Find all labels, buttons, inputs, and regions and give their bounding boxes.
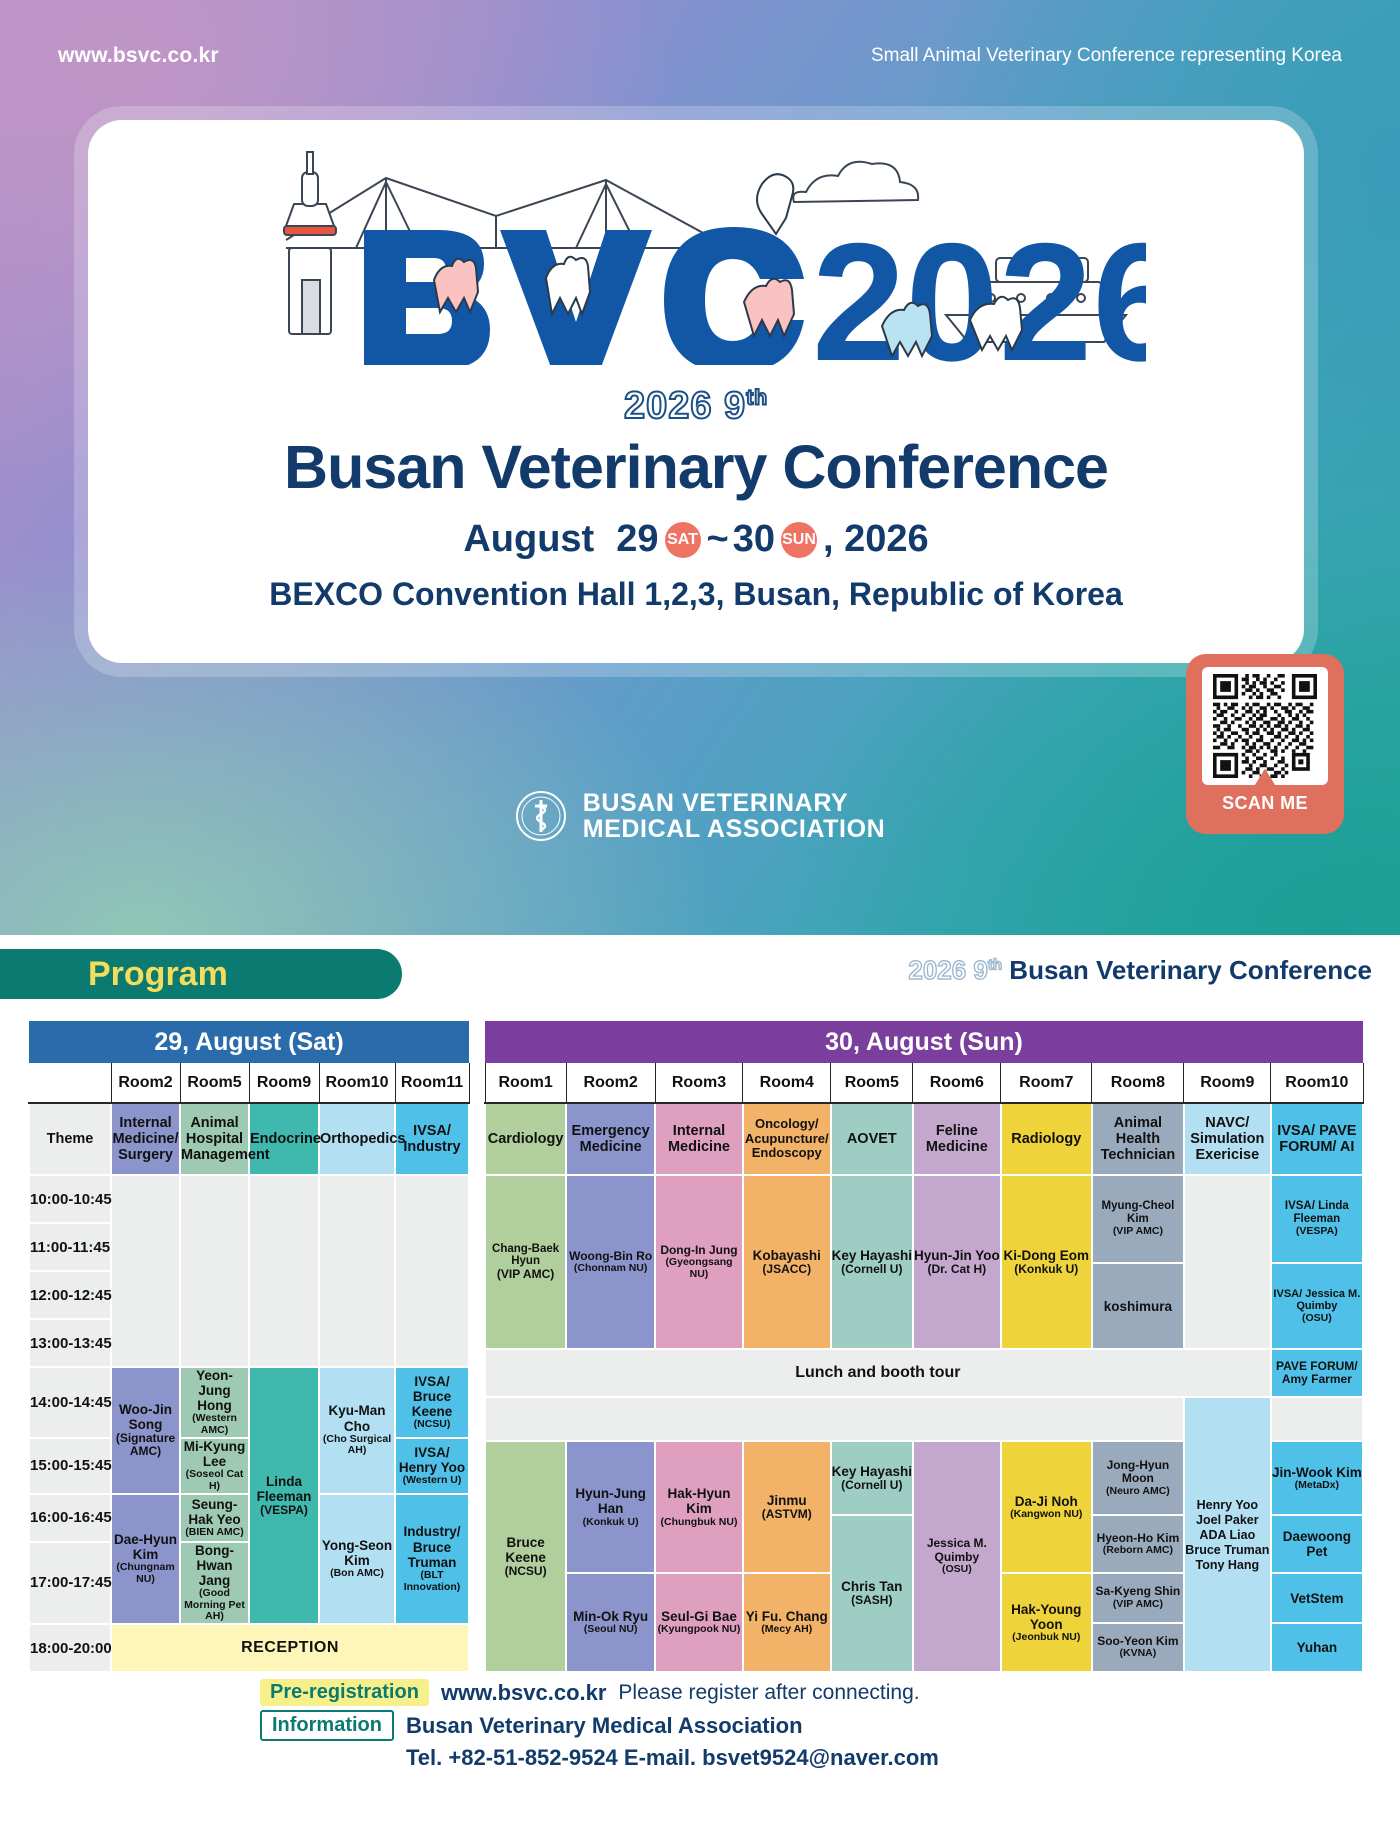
sat-room-header-4: Room11 (395, 1063, 469, 1103)
info-tag: Information (260, 1710, 394, 1741)
saturday-day-header: 29, August (Sat) (29, 1021, 469, 1063)
sat-time-7: 17:00-17:45 (29, 1542, 111, 1625)
sun-empty-r10-1300 (1271, 1397, 1363, 1441)
sat-session-r10-s1[interactable]: Kyu-Man Cho (Cho Surgical AH) (319, 1367, 395, 1494)
logo-letters: 2026 (364, 208, 1146, 365)
association-name: BUSAN VETERINARY MEDICAL ASSOCIATION (583, 790, 886, 843)
sat-session-r5-s3[interactable]: Seung-Hak Yeo (BIEN AMC) (180, 1494, 249, 1542)
prereg-url[interactable]: www.bsvc.co.kr (441, 1680, 606, 1706)
sun-session-r6-am[interactable]: Hyun-Jin Yoo (Dr. Cat H) (913, 1175, 1001, 1349)
caduceus-icon (515, 790, 567, 842)
hero-topbar: www.bsvc.co.kr Small Animal Veterinary C… (0, 36, 1400, 76)
sun-lunch: Lunch and booth tour (485, 1349, 1271, 1397)
sun-room-header-9: Room10 (1271, 1063, 1363, 1103)
sun-session-r10-am2[interactable]: IVSA/ Jessica M. Quimby (OSU) (1271, 1263, 1363, 1349)
sat-time-1: 11:00-11:45 (29, 1223, 111, 1271)
sat-empty-r9-am (249, 1175, 319, 1367)
sun-session-r7-pm2[interactable]: Hak-Young Yoon (Jeonbuk NU) (1001, 1573, 1092, 1672)
sun-session-r1-pm[interactable]: Bruce Keene (NCSU) (485, 1441, 566, 1672)
sat-session-r2-pm2[interactable]: Dae-Hyun Kim (Chungnam NU) (111, 1494, 180, 1625)
sun-theme-8: NAVC/ Simulation Exericise (1184, 1103, 1271, 1175)
qr-scan-label: SCAN ME (1222, 793, 1308, 814)
cloud-icon (793, 162, 918, 202)
qr-code-svg (1213, 674, 1317, 778)
date-end: 30 (733, 518, 775, 561)
sun-session-r5-am[interactable]: Key Hayashi (Cornell U) (831, 1175, 913, 1349)
sat-time-6: 16:00-16:45 (29, 1494, 111, 1542)
program-section: Program 2026 9th Busan Veterinary Confer… (0, 949, 1400, 1844)
sat-theme-4: IVSA/ Industry (395, 1103, 469, 1175)
hero-tagline: Small Animal Veterinary Conference repre… (871, 45, 1342, 67)
sun-session-r7-pm1[interactable]: Da-Ji Noh (Kangwon NU) (1001, 1441, 1092, 1573)
sat-empty-r10-am (319, 1175, 395, 1367)
sat-time-5: 15:00-15:45 (29, 1438, 111, 1494)
sun-session-r4-pm2[interactable]: Yi Fu. Chang (Mecy AH) (743, 1573, 831, 1672)
sun-room-header-3: Room4 (743, 1063, 831, 1103)
sun-session-r4-pm1[interactable]: Jinmu (ASTVM) (743, 1441, 831, 1573)
sat-empty-r11-am (395, 1175, 469, 1367)
sun-theme-9: IVSA/ PAVE FORUM/ AI (1271, 1103, 1363, 1175)
sat-theme-0: Internal Medicine/ Surgery (111, 1103, 180, 1175)
sat-time-4: 14:00-14:45 (29, 1367, 111, 1438)
sun-theme-5: Feline Medicine (913, 1103, 1001, 1175)
sun-theme-7: Animal Health Technician (1092, 1103, 1184, 1175)
sun-session-r10-pm2[interactable]: Daewoong Pet (1271, 1515, 1363, 1573)
prereg-tag: Pre-registration (260, 1679, 429, 1706)
info-contact[interactable]: Tel. +82-51-852-9524 E-mail. bsvet9524@n… (406, 1745, 1140, 1771)
date-tilde: ~ (707, 518, 729, 561)
sun-session-r10-am3[interactable]: PAVE FORUM/ Amy Farmer (1271, 1349, 1363, 1397)
sat-session-r9-all[interactable]: Linda Fleeman (VESPA) (249, 1367, 319, 1624)
sun-session-r5-pm2[interactable]: Chris Tan (SASH) (831, 1515, 913, 1672)
hero-banner: www.bsvc.co.kr Small Animal Veterinary C… (0, 0, 1400, 935)
date-start: 29 (616, 518, 658, 561)
sunday-schedule: 30, August (Sun) Room1 Room2 Room3 Room4… (484, 1021, 1364, 1673)
sat-time-3: 13:00-13:45 (29, 1319, 111, 1367)
sunday-day-header: 30, August (Sun) (485, 1021, 1363, 1063)
sun-session-r8-am1[interactable]: Myung-Cheol Kim (VIP AMC) (1092, 1175, 1184, 1263)
sun-theme-0: Cardiology (485, 1103, 566, 1175)
sat-session-r11-s3[interactable]: Industry/ Bruce Truman (BLT Innovation) (395, 1494, 469, 1625)
sun-session-r5-pm1[interactable]: Key Hayashi (Cornell U) (831, 1441, 913, 1515)
sat-room-header-1: Room5 (180, 1063, 249, 1103)
sat-session-r2-pm1[interactable]: Woo-Jin Song (Signature AMC) (111, 1367, 180, 1494)
association-line-2: MEDICAL ASSOCIATION (583, 816, 886, 842)
sat-room-header-3: Room10 (319, 1063, 395, 1103)
seagull-icon (757, 174, 793, 234)
saturday-schedule: 29, August (Sat) Room2 Room5 Room9 Room1… (28, 1021, 470, 1673)
sun-session-r8-am2[interactable]: koshimura (1092, 1263, 1184, 1349)
sun-theme-1: Emergency Medicine (566, 1103, 655, 1175)
sun-room-header-6: Room7 (1001, 1063, 1092, 1103)
footer: Pre-registration www.bsvc.co.kr Please r… (0, 1673, 1400, 1771)
sun-session-r10-pm3[interactable]: VetStem (1271, 1573, 1363, 1622)
sun-empty-1300 (485, 1397, 1184, 1441)
program-header: Program 2026 9th Busan Veterinary Confer… (0, 949, 1400, 1009)
info-row: Information Busan Veterinary Medical Ass… (260, 1710, 1140, 1741)
qr-code-image (1202, 667, 1328, 785)
program-header-right: 2026 9th Busan Veterinary Conference (908, 955, 1372, 986)
date-year: , 2026 (823, 518, 929, 561)
sat-theme-3: Orthopedics (319, 1103, 395, 1175)
sat-time-8: 18:00-20:00 (29, 1624, 111, 1672)
sat-theme-label: Theme (29, 1103, 111, 1175)
venue: BEXCO Convention Hall 1,2,3, Busan, Repu… (88, 576, 1304, 613)
sat-session-r11-s2[interactable]: IVSA/ Henry Yoo (Western U) (395, 1438, 469, 1494)
sun-session-r10-pm1[interactable]: Jin-Wook Kim (MetaDx) (1271, 1441, 1363, 1515)
sun-session-r6-pm[interactable]: Jessica M. Quimby (OSU) (913, 1441, 1001, 1672)
qr-code-badge[interactable]: SCAN ME (1186, 654, 1344, 834)
sun-badge: SUN (781, 522, 817, 558)
conference-title: Busan Veterinary Conference (88, 432, 1304, 502)
sun-session-r1-am[interactable]: Chang-Baek Hyun (VIP AMC) (485, 1175, 566, 1349)
sun-session-r8-pm4[interactable]: Soo-Yeon Kim (KVNA) (1092, 1623, 1184, 1672)
sun-theme-4: AOVET (831, 1103, 913, 1175)
sun-session-r8-pm1[interactable]: Jong-Hyun Moon (Neuro AMC) (1092, 1441, 1184, 1515)
bvc-2026-logo: 2026 (88, 130, 1304, 375)
logo-artwork: 2026 (246, 130, 1146, 365)
sun-room-header-1: Room2 (566, 1063, 655, 1103)
info-organization: Busan Veterinary Medical Association (406, 1713, 803, 1739)
sun-empty-r9-am (1184, 1175, 1271, 1349)
sat-corner-cell (29, 1063, 111, 1103)
sat-session-r5-s4[interactable]: Bong-Hwan Jang (Good Morning Pet AH) (180, 1542, 249, 1625)
sat-empty-r5-am (180, 1175, 249, 1367)
sun-room-header-0: Room1 (485, 1063, 566, 1103)
sun-room-header-2: Room3 (655, 1063, 743, 1103)
sat-badge: SAT (665, 522, 701, 558)
prereg-note: Please register after connecting. (618, 1681, 919, 1705)
sun-room-header-8: Room9 (1184, 1063, 1271, 1103)
sun-room-header-5: Room6 (913, 1063, 1001, 1103)
busan-tower-icon (284, 152, 336, 334)
edition-label: 2026 9th (88, 385, 1304, 428)
sat-time-0: 10:00-10:45 (29, 1175, 111, 1223)
sun-session-r2-pm1[interactable]: Hyun-Jung Han (Konkuk U) (566, 1441, 655, 1573)
sun-session-r8-pm3[interactable]: Sa-Kyeng Shin (VIP AMC) (1092, 1573, 1184, 1622)
sat-session-r5-s2[interactable]: Mi-Kyung Lee (Soseol Cat H) (180, 1438, 249, 1494)
sun-session-r3-pm1[interactable]: Hak-Hyun Kim (Chungbuk NU) (655, 1441, 743, 1573)
sat-theme-1: Animal Hospital Management (180, 1103, 249, 1175)
prereg-row: Pre-registration www.bsvc.co.kr Please r… (260, 1679, 1140, 1706)
program-title: Program (0, 949, 402, 999)
sat-room-header-2: Room9 (249, 1063, 319, 1103)
association-line-1: BUSAN VETERINARY (583, 790, 886, 816)
sun-session-r3-pm2[interactable]: Seul-Gi Bae (Kyungpook NU) (655, 1573, 743, 1672)
sun-session-r10-pm4[interactable]: Yuhan (1271, 1623, 1363, 1672)
sun-session-r4-am[interactable]: Kobayashi (JSACC) (743, 1175, 831, 1349)
sun-session-r2-pm2[interactable]: Min-Ok Ryu (Seoul NU) (566, 1573, 655, 1672)
sun-room-header-4: Room5 (831, 1063, 913, 1103)
date-month: August (463, 518, 594, 561)
sun-session-r7-am[interactable]: Ki-Dong Eom (Konkuk U) (1001, 1175, 1092, 1349)
sat-room-header-0: Room2 (111, 1063, 180, 1103)
sun-theme-6: Radiology (1001, 1103, 1092, 1175)
sun-session-r9-all[interactable]: Henry Yoo Joel Paker ADA Liao Bruce Trum… (1184, 1397, 1271, 1672)
sat-session-r5-s1[interactable]: Yeon-Jung Hong (Western AMC) (180, 1367, 249, 1438)
sun-session-r3-am[interactable]: Dong-In Jung (Gyeongsang NU) (655, 1175, 743, 1349)
sun-session-r10-am1[interactable]: IVSA/ Linda Fleeman (VESPA) (1271, 1175, 1363, 1263)
website-url[interactable]: www.bsvc.co.kr (58, 44, 219, 68)
schedule-tables: 29, August (Sat) Room2 Room5 Room9 Room1… (0, 1009, 1400, 1673)
sat-time-2: 12:00-12:45 (29, 1271, 111, 1319)
sun-session-r8-pm2[interactable]: Hyeon-Ho Kim (Reborn AMC) (1092, 1515, 1184, 1573)
sun-room-header-7: Room8 (1092, 1063, 1184, 1103)
sat-empty-r2-am (111, 1175, 180, 1367)
sat-theme-2: Endocrine (249, 1103, 319, 1175)
bridge-icon (286, 178, 716, 248)
sat-reception: RECEPTION (111, 1624, 469, 1672)
sun-session-r2-am[interactable]: Woong-Bin Ro (Chonnam NU) (566, 1175, 655, 1349)
sun-theme-2: Internal Medicine (655, 1103, 743, 1175)
hero-white-card: 2026 2026 9th Busan Veterinary Confer (88, 120, 1304, 663)
sat-session-r11-s1[interactable]: IVSA/ Bruce Keene (NCSU) (395, 1367, 469, 1438)
sat-session-r10-s2[interactable]: Yong-Seon Kim (Bon AMC) (319, 1494, 395, 1625)
conference-dates: August 29 SAT ~ 30 SUN , 2026 (88, 518, 1304, 561)
sun-theme-3: Oncology/ Acupuncture/ Endoscopy (743, 1103, 831, 1175)
